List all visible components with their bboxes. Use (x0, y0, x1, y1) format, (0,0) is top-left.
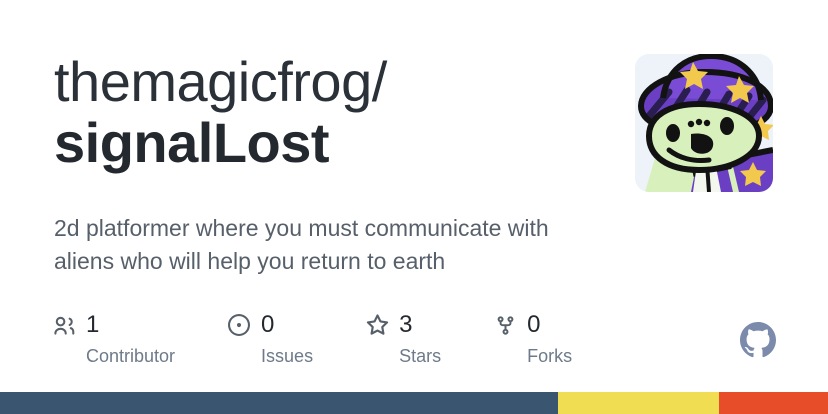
repo-forked-icon (493, 313, 517, 337)
stat-stars[interactable]: 3 Stars (365, 310, 441, 367)
stripe-segment-yellow (558, 392, 719, 414)
stat-issues-label: Issues (261, 346, 313, 367)
github-logo (740, 322, 776, 358)
stat-forks[interactable]: 0 Forks (493, 310, 572, 367)
stat-forks-top: 0 (493, 310, 540, 340)
star-icon (365, 313, 389, 337)
stripe-segment-orange (719, 392, 828, 414)
avatar[interactable] (635, 54, 773, 192)
stat-contributors-top: 1 (52, 310, 99, 340)
repository-social-card: themagicfrog/ signalLost 2d platformer w… (0, 0, 828, 414)
repo-owner[interactable]: themagicfrog/ (54, 52, 614, 112)
stat-forks-value: 0 (527, 312, 540, 338)
stat-issues[interactable]: 0 Issues (227, 310, 313, 367)
stat-contributors-label: Contributor (86, 346, 175, 367)
page-title: themagicfrog/ signalLost (54, 52, 614, 174)
stripe-segment-blue (0, 392, 558, 414)
issue-opened-icon (227, 313, 251, 337)
stat-issues-top: 0 (227, 310, 274, 340)
stat-stars-top: 3 (365, 310, 412, 340)
bottom-color-stripe (0, 392, 828, 414)
repo-description: 2d platformer where you must communicate… (54, 212, 584, 278)
stat-forks-label: Forks (527, 346, 572, 367)
repo-name[interactable]: signalLost (54, 112, 614, 174)
people-icon (52, 313, 76, 337)
repo-stats: 1 Contributor 0 Issues (52, 310, 572, 367)
stat-contributors[interactable]: 1 Contributor (52, 310, 175, 367)
stat-contributors-value: 1 (86, 312, 99, 338)
stat-issues-value: 0 (261, 312, 274, 338)
stat-stars-value: 3 (399, 312, 412, 338)
stat-stars-label: Stars (399, 346, 441, 367)
